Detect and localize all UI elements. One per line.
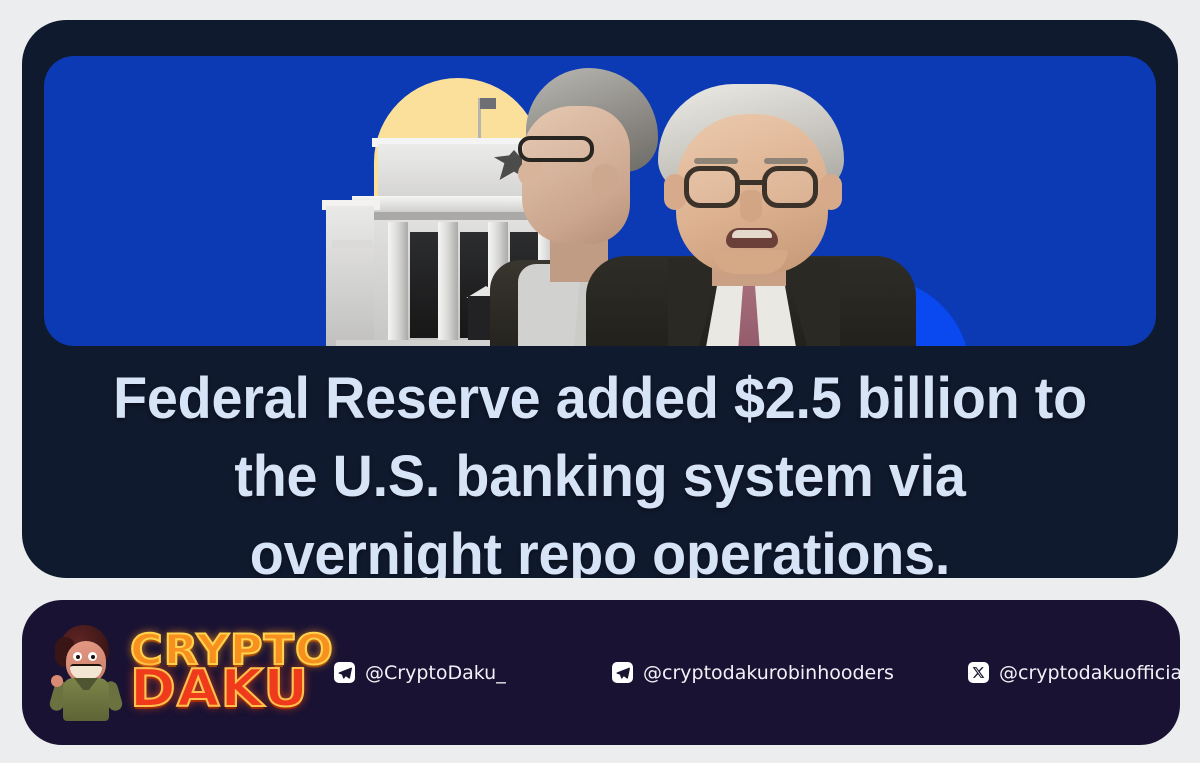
headline-text: Federal Reserve added $2.5 billion to th… [103, 360, 1098, 578]
chin [712, 250, 788, 274]
social-handle-label: @cryptodakurobinhooders [643, 662, 894, 684]
eyeglasses-bridge [738, 180, 764, 185]
nose [740, 190, 762, 222]
right-ear [820, 174, 842, 210]
social-handles: @CryptoDaku_ @cryptodakurobinhooders @cr… [322, 600, 1160, 745]
eyeglasses-right-lens [762, 166, 818, 208]
wordmark-line-daku: DAKU [130, 668, 334, 711]
eyeglasses-left-lens [684, 166, 740, 208]
left-wing [326, 206, 374, 346]
left-eyebrow [694, 158, 738, 164]
telegram-icon [334, 662, 355, 683]
left-ear [664, 174, 686, 210]
ear [592, 164, 618, 198]
footer-bar: CRYPTO DAKU @CryptoDaku_ @cryptodakurobi… [22, 600, 1180, 745]
social-handle-x-cryptodakuofficial[interactable]: @cryptodakuofficial [968, 662, 1180, 684]
mascot-fist [51, 675, 63, 687]
nose [518, 160, 542, 186]
hero-image-collage [44, 56, 1156, 346]
column [438, 222, 458, 346]
eyeglasses [518, 136, 594, 162]
x-icon [968, 662, 989, 683]
flag [480, 98, 496, 109]
left-wing-ledge [332, 240, 372, 248]
telegram-icon [612, 662, 633, 683]
news-card: Federal Reserve added $2.5 billion to th… [22, 20, 1178, 578]
social-handle-label: @cryptodakuofficial [999, 662, 1180, 684]
jerome-powell-front-image [616, 78, 884, 346]
right-eyebrow [764, 158, 808, 164]
social-handle-telegram-robinhooders[interactable]: @cryptodakurobinhooders [612, 662, 894, 684]
mascot-grin [70, 664, 102, 679]
window-bay [410, 232, 438, 338]
brand-logo: CRYPTO DAKU [50, 620, 310, 724]
mascot-left-pupil [76, 655, 80, 659]
social-handle-label: @CryptoDaku_ [365, 662, 506, 684]
social-handle-telegram-cryptodaku[interactable]: @CryptoDaku_ [334, 662, 506, 684]
teeth [732, 230, 772, 238]
mascot-right-pupil [91, 655, 95, 659]
crypto-daku-mascot-icon [50, 623, 124, 721]
column [388, 222, 408, 346]
brand-wordmark: CRYPTO DAKU [130, 633, 322, 710]
